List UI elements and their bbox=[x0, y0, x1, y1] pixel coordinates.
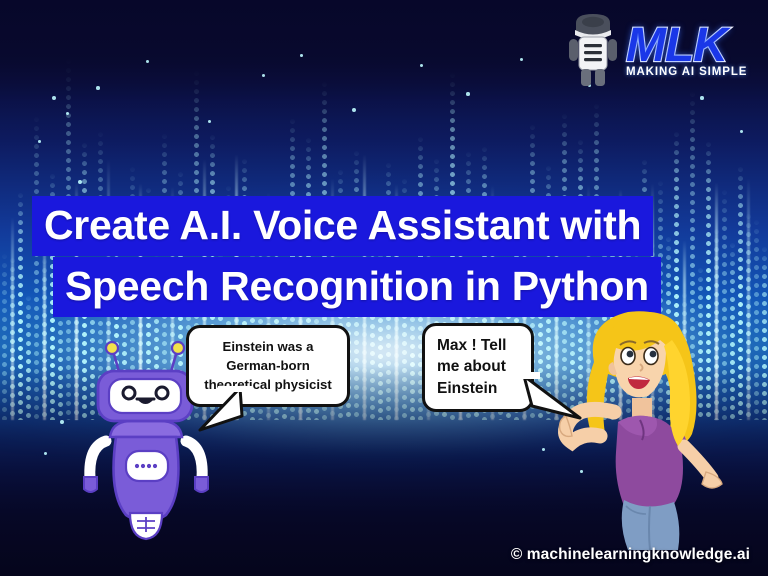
logo-name: MLK bbox=[626, 24, 760, 68]
robot-speech-text: Einstein was a German-born theoretical p… bbox=[204, 339, 332, 392]
page-title: Create A.I. Voice Assistant with Speech … bbox=[0, 196, 768, 317]
girl-speech-text: Max ! Tell me about Einstein bbox=[437, 337, 506, 397]
copyright-watermark: © machinelearningknowledge.ai bbox=[511, 546, 750, 564]
title-line-1: Create A.I. Voice Assistant with bbox=[32, 196, 653, 256]
robot-bubble-tail bbox=[178, 386, 268, 440]
mlk-logo[interactable]: MLK MAKING AI SIMPLE bbox=[562, 6, 760, 92]
logo-wordmark: MLK MAKING AI SIMPLE bbox=[626, 20, 760, 77]
robot-mascot-icon bbox=[562, 8, 624, 90]
thumbnail-canvas: MLK MAKING AI SIMPLE Create A.I. Voice A… bbox=[0, 0, 768, 576]
logo-tagline: MAKING AI SIMPLE bbox=[626, 66, 760, 78]
girl-bubble-tail bbox=[506, 372, 596, 428]
